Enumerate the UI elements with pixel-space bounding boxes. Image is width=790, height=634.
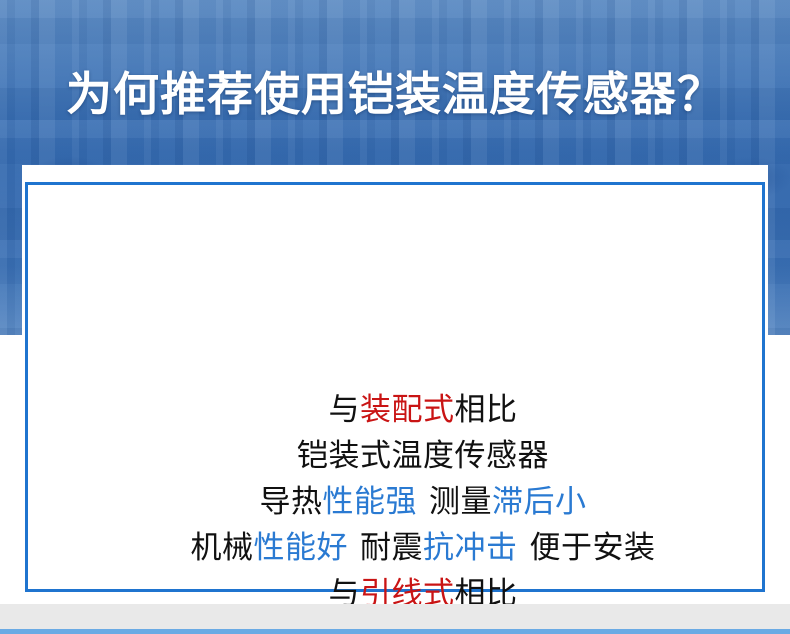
page-title: 为何推荐使用铠装温度传感器？ <box>0 68 790 120</box>
text-segment-red: 装配式 <box>360 392 455 427</box>
text-segment-black: 便于安装 <box>530 530 656 565</box>
line-4: 机械性能好耐震抗冲击便于安装 <box>191 525 656 571</box>
text-segment-blue: 滞后小 <box>492 484 587 519</box>
line-3: 导热性能强测量滞后小 <box>260 479 587 525</box>
text-segment-black: 铠装式温度传感器 <box>297 438 549 473</box>
text-segment-black: 机械 <box>191 530 254 565</box>
text-segment-black: 导热 <box>260 484 323 519</box>
text-segment-blue: 性能好 <box>254 530 349 565</box>
text-segment-black: 测量 <box>429 484 492 519</box>
page-root: 为何推荐使用铠装温度传感器？ 与装配式相比铠装式温度传感器导热性能强测量滞后小机… <box>0 0 790 634</box>
line-2: 铠装式温度传感器 <box>297 433 549 479</box>
text-segment-blue: 性能强 <box>323 484 418 519</box>
feature-list: 与装配式相比铠装式温度传感器导热性能强测量滞后小机械性能好耐震抗冲击便于安装与引… <box>56 371 790 634</box>
feature-list-frame: 与装配式相比铠装式温度传感器导热性能强测量滞后小机械性能好耐震抗冲击便于安装与引… <box>25 182 765 592</box>
text-segment-black: 与 <box>329 392 361 427</box>
bottom-blue-strip <box>0 629 790 634</box>
text-segment-blue: 抗冲击 <box>423 530 518 565</box>
bottom-gray-band <box>0 604 790 629</box>
text-segment-black: 相比 <box>455 392 518 427</box>
line-1: 与装配式相比 <box>329 387 518 433</box>
text-segment-black: 耐震 <box>360 530 423 565</box>
